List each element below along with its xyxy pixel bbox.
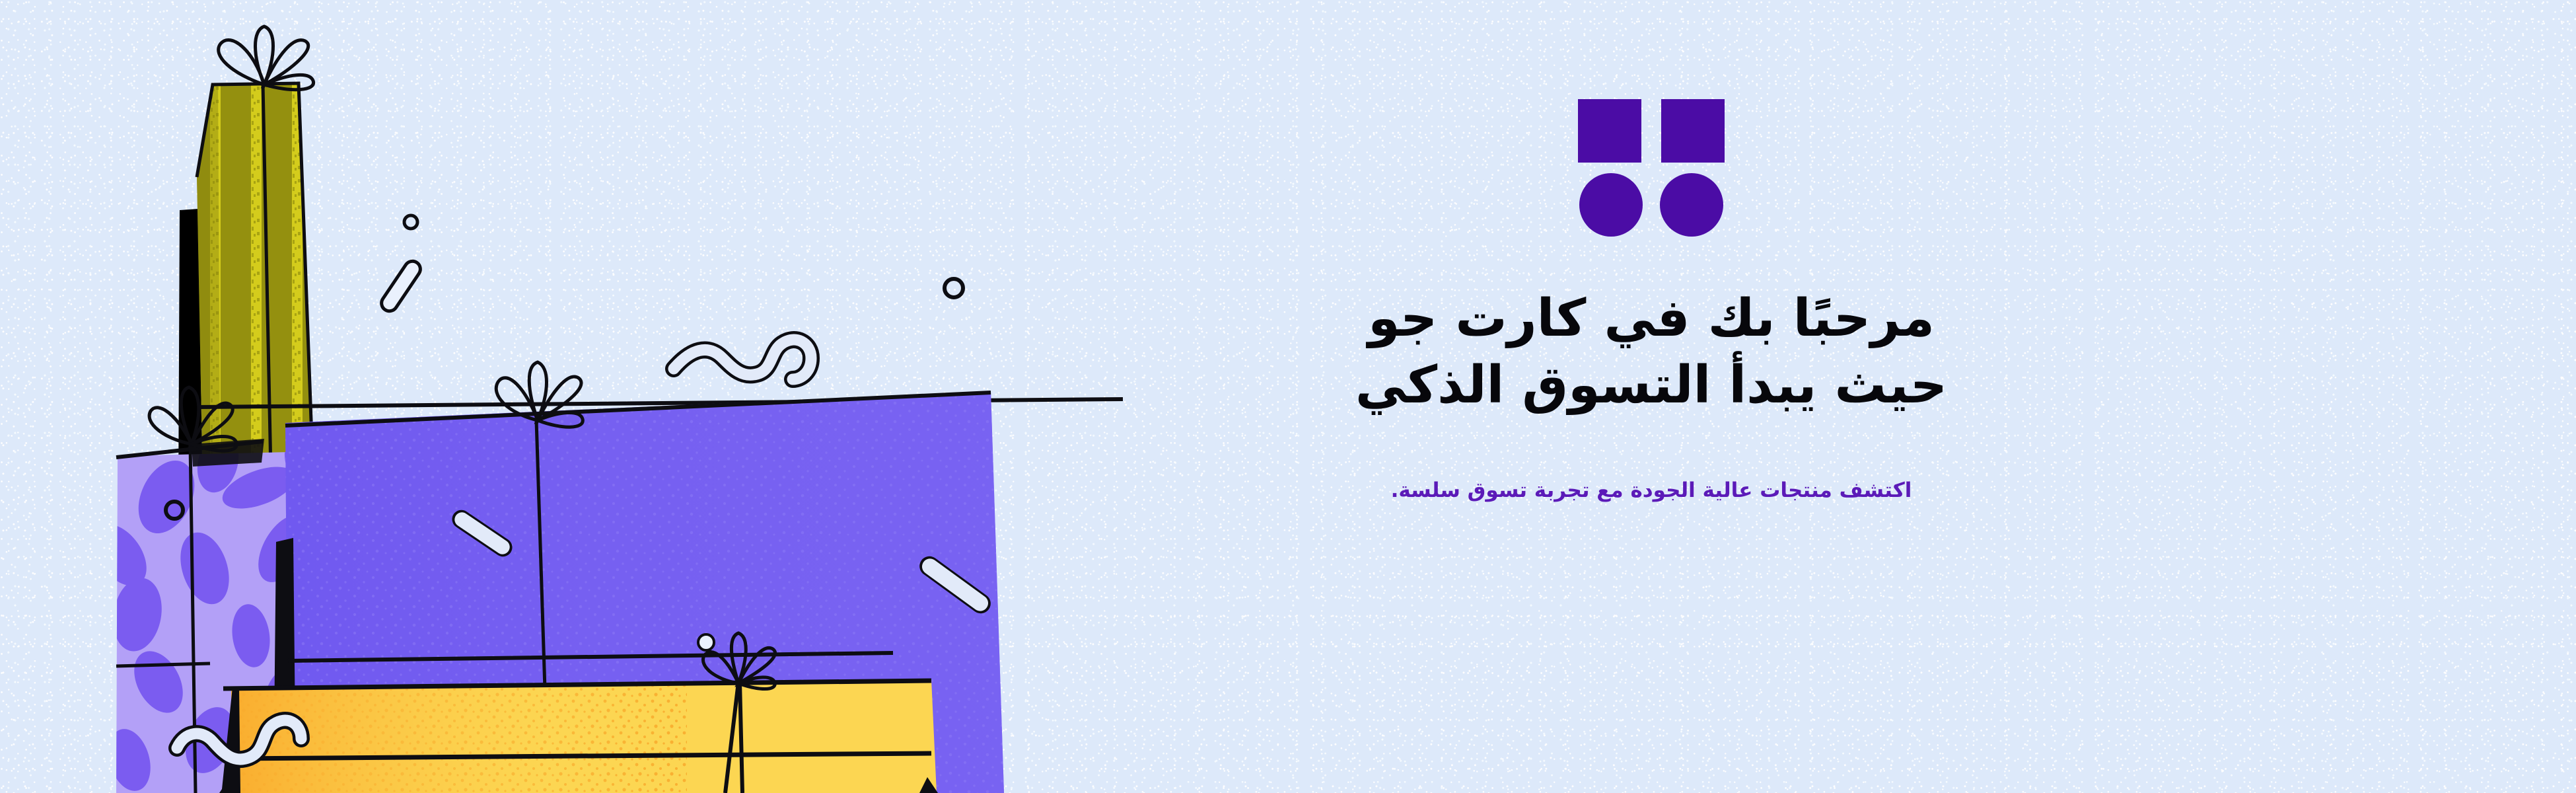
logo-square-right	[1661, 99, 1725, 163]
headline-line-1: مرحبًا بك في كارت جو	[1368, 289, 1935, 348]
promo-banner: مرحبًا بك في كارت جو حيث يبدأ التسوق الذ…	[0, 0, 2576, 793]
headline-line-2: حيث يبدأ التسوق الذكي	[1355, 352, 1947, 419]
small-circle-outline	[945, 279, 963, 297]
squiggle	[674, 340, 811, 379]
small-circle-outline	[404, 215, 417, 229]
logo-square-left	[1578, 99, 1641, 163]
logo-circle-left	[1579, 173, 1643, 237]
banner-content: مرحبًا بك في كارت جو حيث يبدأ التسوق الذ…	[1288, 0, 2015, 793]
subtitle: اكتشف منتجات عالية الجودة مع تجربة تسوق …	[1391, 476, 1912, 505]
page-title: مرحبًا بك في كارت جو حيث يبدأ التسوق الذ…	[1355, 285, 1947, 420]
small-circle-outline	[698, 634, 714, 650]
ribbon-bow	[219, 26, 314, 90]
pill-dash	[378, 258, 423, 315]
logo-circle-right	[1660, 173, 1723, 237]
card-go-logo[interactable]	[1578, 99, 1725, 237]
gift-boxes-illustration	[0, 0, 1123, 793]
